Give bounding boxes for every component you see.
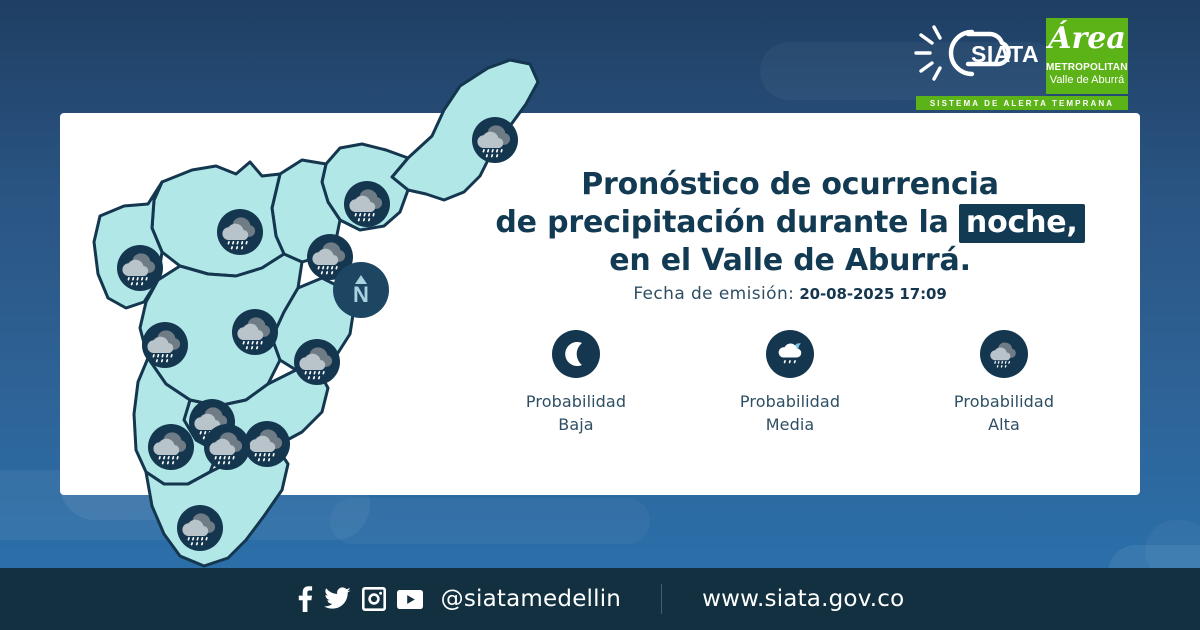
area-script-word: Área: [1046, 21, 1128, 56]
emission-date-block: Fecha de emisión: 20-08-2025 17:09: [470, 284, 1110, 304]
weather-marker-bello: [217, 209, 263, 255]
siata-wordmark: SIATA: [971, 41, 1038, 67]
legend-item-alta: Probabilidad Alta: [929, 330, 1079, 436]
legend-media-line1: Probabilidad: [740, 392, 840, 411]
compass-rose: N: [333, 262, 389, 318]
headline-block: Pronóstico de ocurrencia de precipitació…: [470, 166, 1110, 280]
area-line-2: Valle de Aburrá: [1046, 74, 1128, 86]
legend-item-baja: Probabilidad Baja: [501, 330, 651, 436]
area-line-1: METROPOLITANA: [1046, 62, 1128, 73]
probability-legend: Probabilidad Baja Probabilidad Media: [470, 330, 1110, 436]
weather-marker-la-estrella: [148, 424, 194, 470]
website-url[interactable]: www.siata.gov.co: [702, 586, 904, 612]
weather-marker-sabaneta: [244, 421, 290, 467]
weather-marker-barbosa: [472, 117, 518, 163]
weather-marker-san-jeronimo: [117, 245, 163, 291]
cloud-heavy-rain-icon: [980, 330, 1028, 378]
siata-tagline-bar: SISTEMA DE ALERTA TEMPRANA: [916, 96, 1128, 110]
emission-date-value: 20-08-2025 17:09: [799, 285, 946, 303]
weather-marker-medellin-oeste: [142, 322, 188, 368]
legend-baja-line1: Probabilidad: [526, 392, 626, 411]
weather-marker-caldas: [177, 505, 223, 551]
emission-date-label: Fecha de emisión:: [633, 284, 794, 304]
weather-marker-envigado: [204, 424, 250, 470]
compass-north-label: N: [353, 285, 369, 305]
headline-highlight: noche,: [959, 204, 1085, 243]
instagram-icon[interactable]: [362, 587, 386, 611]
infographic-root: N Pronóstico de ocurrencia de precipitac…: [0, 0, 1200, 630]
siata-logo: SIATA: [908, 18, 1038, 88]
youtube-icon[interactable]: [397, 590, 423, 609]
legend-media-line2: Media: [766, 415, 815, 434]
headline-line-1: Pronóstico de ocurrencia: [470, 166, 1110, 204]
weather-marker-medellin-norte: [232, 309, 278, 355]
valle-de-aburra-map: N: [40, 40, 600, 600]
social-handle[interactable]: @siatamedellin: [441, 586, 621, 612]
legend-alta-line1: Probabilidad: [954, 392, 1054, 411]
social-icons: [296, 586, 423, 612]
facebook-icon[interactable]: [296, 586, 313, 612]
headline-line-2-text: de precipitación durante la: [495, 205, 948, 240]
footer-bar: @siatamedellin www.siata.gov.co: [0, 568, 1200, 630]
area-metropolitana-logo: Área METROPOLITANA Valle de Aburrá: [1046, 18, 1128, 94]
legend-label-alta: Probabilidad Alta: [954, 390, 1054, 436]
legend-alta-line2: Alta: [988, 415, 1020, 434]
legend-label-baja: Probabilidad Baja: [526, 390, 626, 436]
weather-marker-girardota: [344, 181, 390, 227]
legend-item-media: Probabilidad Media: [715, 330, 865, 436]
weather-marker-medellin-este: [294, 339, 340, 385]
cloud-rain-moon-icon: [766, 330, 814, 378]
siata-tagline-text: SISTEMA DE ALERTA TEMPRANA: [930, 99, 1114, 108]
logo-group: SIATA Área METROPOLITANA Valle de Aburrá: [908, 18, 1128, 94]
moon-icon: [552, 330, 600, 378]
twitter-icon[interactable]: [324, 587, 351, 611]
legend-baja-line2: Baja: [558, 415, 593, 434]
headline-line-2: de precipitación durante la noche,: [470, 204, 1110, 242]
headline-line-3: en el Valle de Aburrá.: [470, 242, 1110, 280]
legend-label-media: Probabilidad Media: [740, 390, 840, 436]
footer-divider: [661, 584, 662, 614]
